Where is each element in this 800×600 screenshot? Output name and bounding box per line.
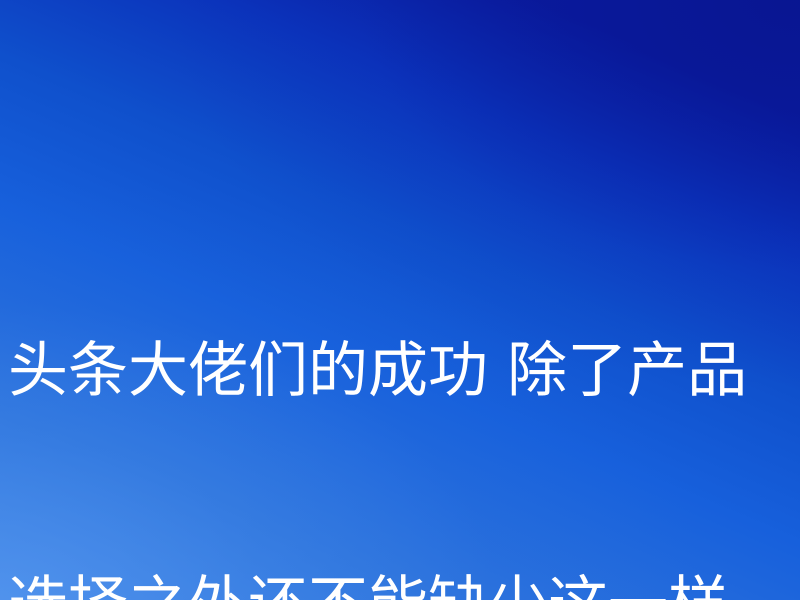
article-cover-banner: 头条大佬们的成功 除了产品 选择之外还不能缺少这一样 东西 xyxy=(0,0,800,600)
headline-line-2: 选择之外还不能缺少这一样 xyxy=(8,566,792,600)
banner-headline: 头条大佬们的成功 除了产品 选择之外还不能缺少这一样 东西 xyxy=(8,176,792,600)
headline-line-1: 头条大佬们的成功 除了产品 xyxy=(8,332,792,410)
